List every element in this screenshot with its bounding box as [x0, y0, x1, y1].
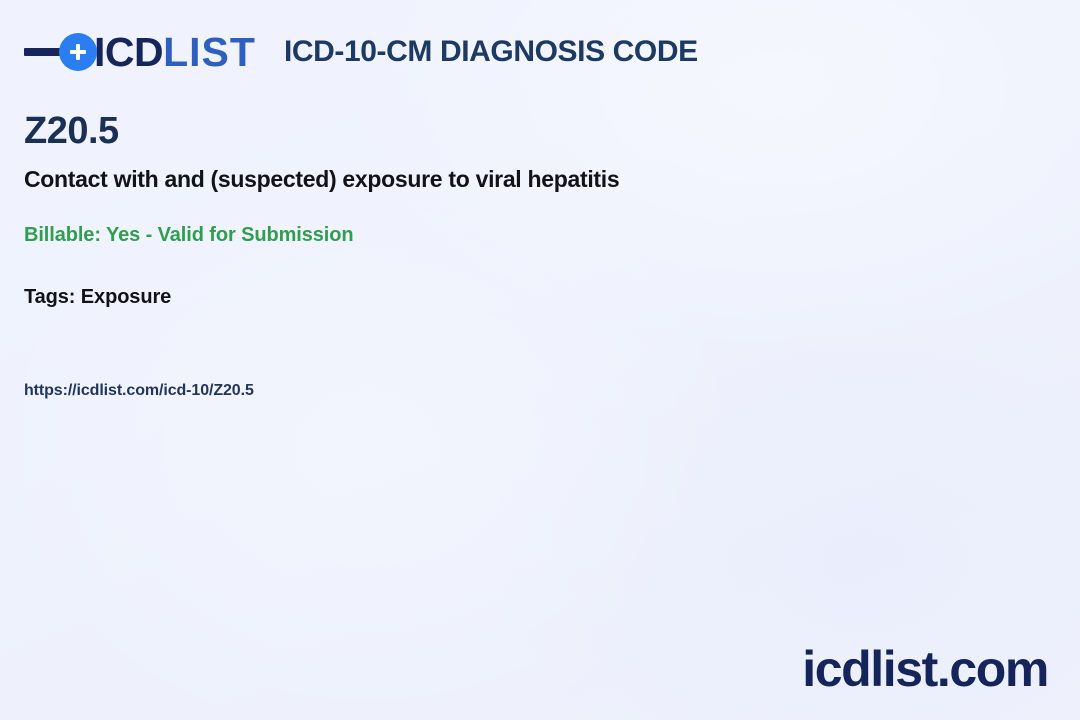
background-artwork — [0, 0, 1080, 720]
source-url[interactable]: https://icdlist.com/icd-10/Z20.5 — [24, 382, 254, 400]
icdlist-logo[interactable]: ICDLIST — [24, 30, 256, 74]
page-title: ICD-10-CM DIAGNOSIS CODE — [284, 35, 698, 69]
logo-wordmark: ICDLIST — [94, 32, 256, 73]
footer-brand: icdlist.com — [802, 644, 1048, 694]
icd-code-card: ICDLIST ICD-10-CM DIAGNOSIS CODE Z20.5 C… — [0, 0, 1080, 720]
paper-heart-art — [629, 388, 808, 635]
background-wash — [0, 0, 1080, 720]
logo-word-secondary: LIST — [163, 29, 256, 75]
plus-icon — [59, 33, 97, 71]
diagnosis-code: Z20.5 — [24, 112, 119, 150]
tags-line: Tags: Exposure — [24, 286, 171, 309]
background-veil — [0, 0, 1080, 720]
logo-word-primary: ICD — [94, 29, 163, 75]
page-header: ICDLIST ICD-10-CM DIAGNOSIS CODE — [24, 24, 698, 80]
billable-status: Billable: Yes - Valid for Submission — [24, 224, 353, 247]
dash-icon — [24, 48, 64, 56]
diagnosis-description: Contact with and (suspected) exposure to… — [24, 166, 619, 194]
stethoscope-art — [186, 84, 430, 520]
